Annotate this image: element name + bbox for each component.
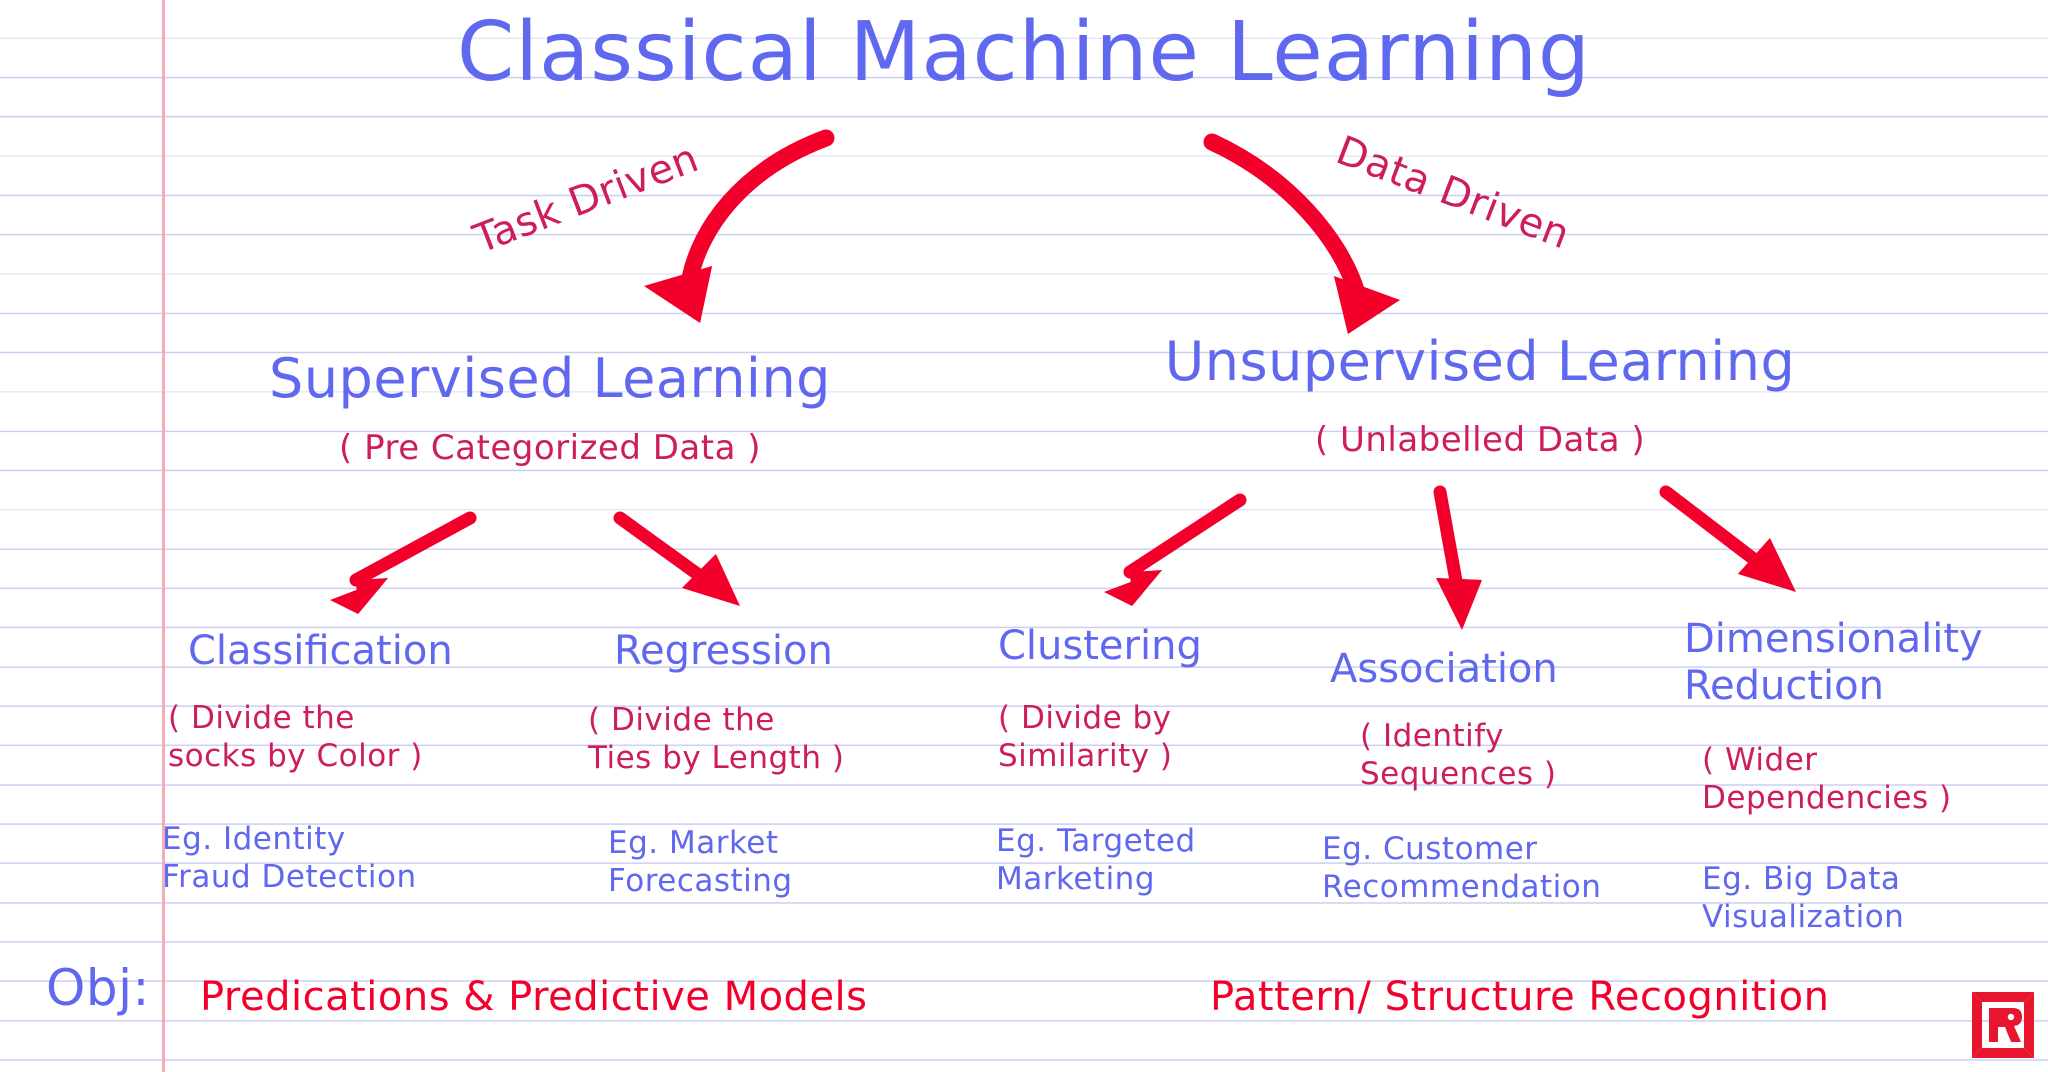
branch-title-supervised: Supervised Learning (180, 350, 920, 407)
branch-title-unsupervised: Unsupervised Learning (1110, 333, 1850, 390)
branch-subtitle-unsupervised: ( Unlabelled Data ) (1110, 422, 1850, 458)
leaf-example-regression: Eg. Market Forecasting (608, 824, 793, 901)
leaf-definition-clustering: ( Divide by Similarity ) (998, 700, 1173, 776)
leaf-title-association: Association (1330, 648, 1558, 690)
leaf-definition-regression: ( Divide the Ties by Length ) (588, 702, 844, 778)
leaf-definition-classification: ( Divide the socks by Color ) (168, 700, 423, 776)
logo-letter-r (1989, 1008, 2022, 1042)
leaf-title-dimensionality-reduction: Dimensionality Reduction (1684, 616, 1983, 710)
leaf-definition-dimensionality-reduction: ( Wider Dependencies ) (1702, 742, 1952, 818)
brand-logo (1972, 992, 2034, 1058)
objective-row-label: Obj: (46, 962, 150, 1015)
objective-value-unsupervised: Pattern/ Structure Recognition (1210, 976, 1829, 1018)
leaf-example-clustering: Eg. Targeted Marketing (996, 822, 1196, 899)
leaf-title-regression: Regression (614, 630, 833, 672)
leaf-example-association: Eg. Customer Recommendation (1322, 830, 1601, 907)
leaf-definition-association: ( Identify Sequences ) (1360, 718, 1557, 794)
leaf-title-classification: Classification (188, 630, 453, 672)
objective-value-supervised: Predications & Predictive Models (200, 976, 868, 1018)
leaf-example-dimensionality-reduction: Eg. Big Data Visualization (1702, 860, 1904, 937)
edge-label-task-driven: Task Driven (468, 137, 704, 261)
page-title: Classical Machine Learning (0, 10, 2048, 97)
leaf-example-classification: Eg. Identity Fraud Detection (162, 820, 417, 897)
leaf-title-clustering: Clustering (998, 625, 1202, 667)
branch-subtitle-supervised: ( Pre Categorized Data ) (180, 430, 920, 466)
edge-label-data-driven: Data Driven (1331, 129, 1576, 257)
